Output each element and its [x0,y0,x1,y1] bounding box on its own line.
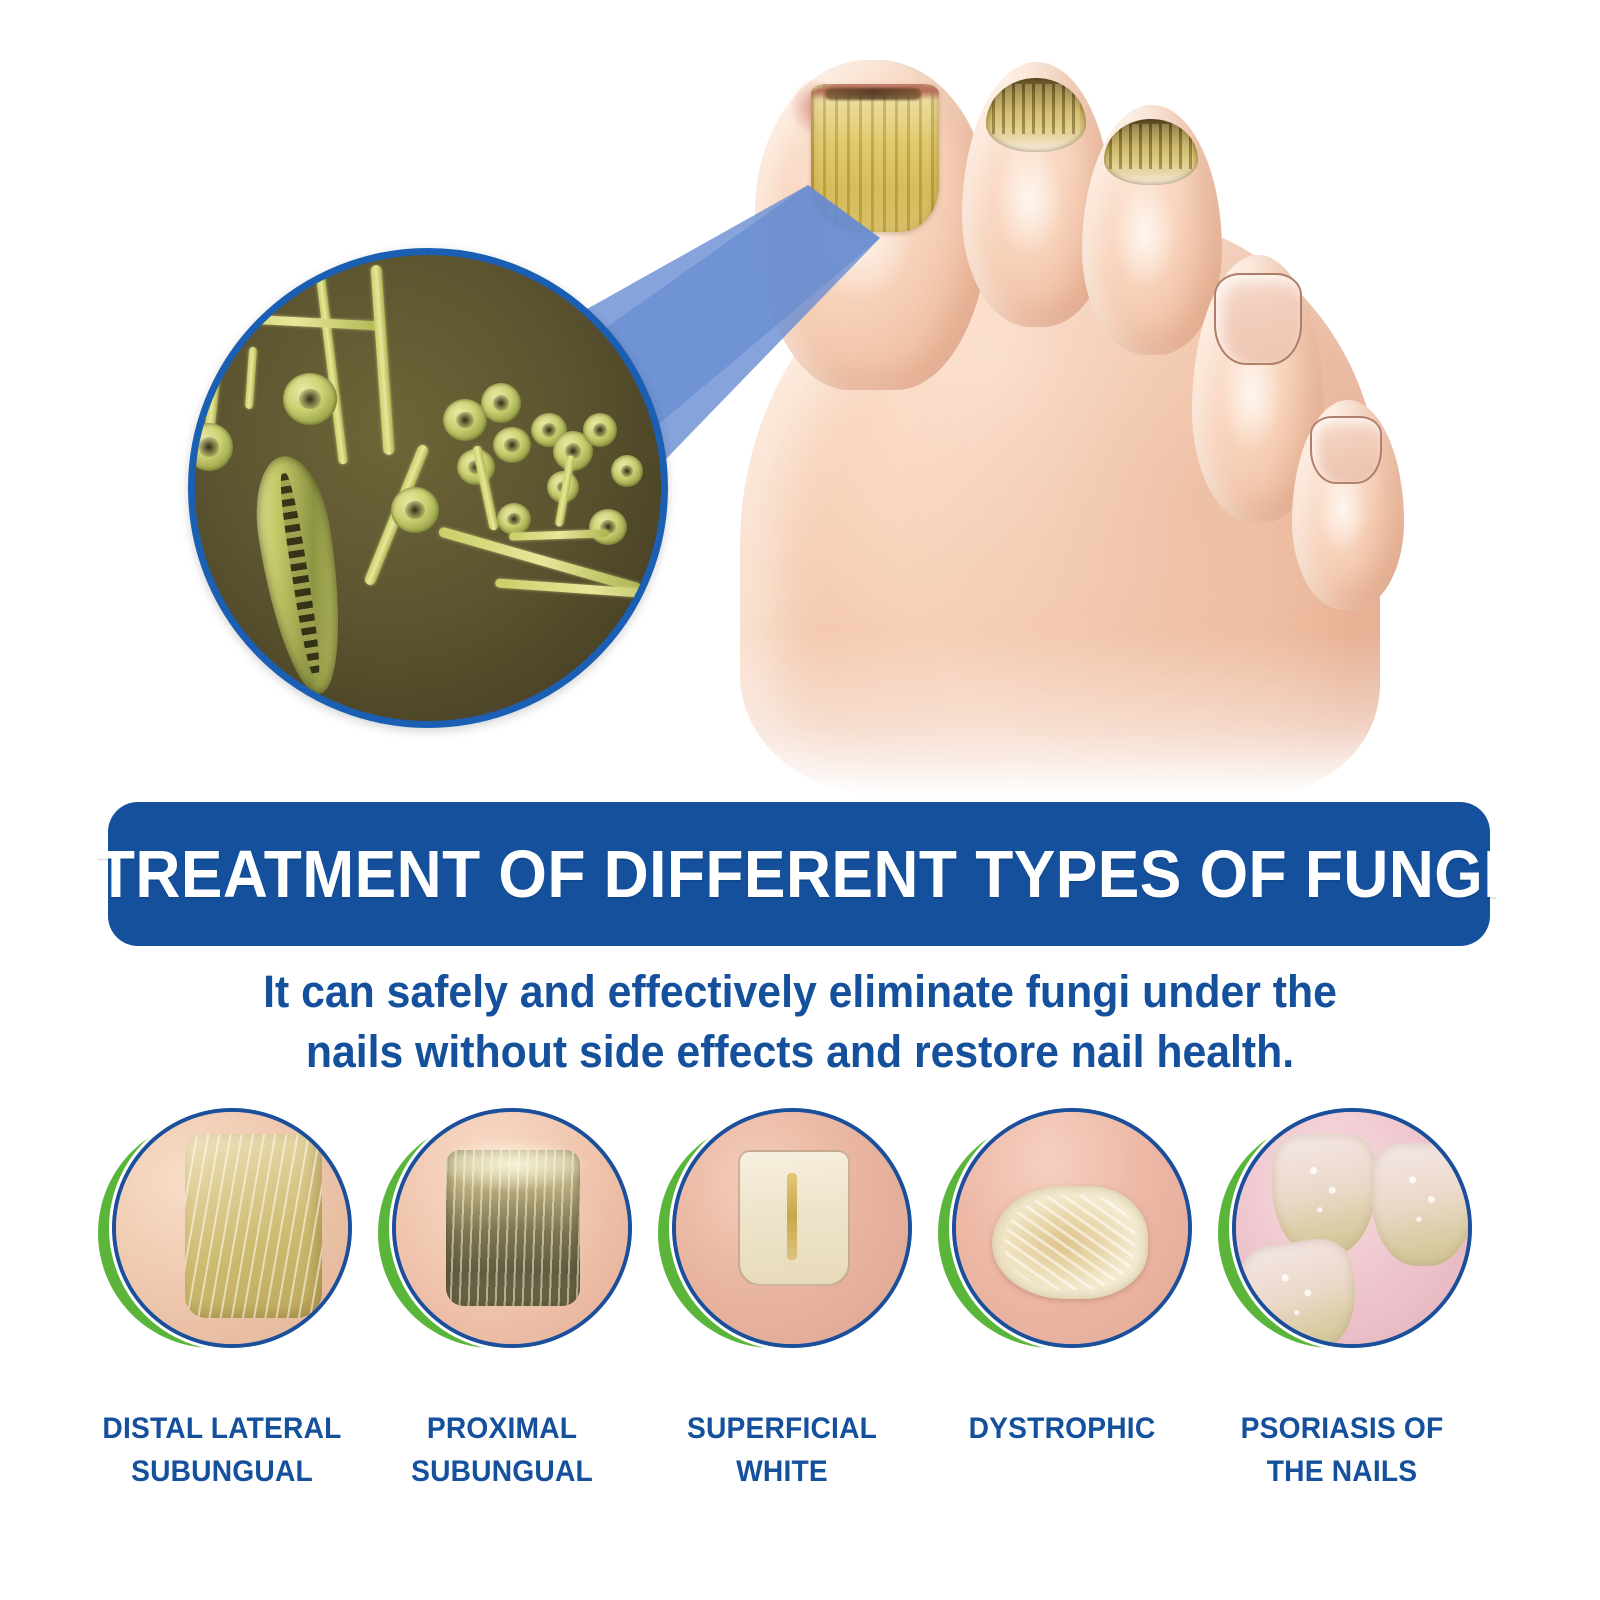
nail-plate [1272,1134,1376,1257]
hypha-main-filament [370,265,394,455]
nail-plate [185,1134,322,1318]
nail-plate [992,1186,1148,1299]
nail-photo-art [674,1110,910,1346]
nail-photo [1232,1108,1472,1348]
banner-title: TREATMENT OF DIFFERENT TYPES OF FUNGI [97,841,1501,908]
big-toe [755,60,990,390]
label-dystrophic: DYSTROPHIC [921,1408,1203,1451]
infographic-page: TREATMENT OF DIFFERENT TYPES OF FUNGI It… [0,0,1600,1600]
label-distal-lateral-subungual: DISTAL LATERAL SUBUNGUAL [81,1408,363,1493]
spore [283,373,337,425]
spore [391,487,439,533]
spore [583,413,617,447]
subtitle-block: It can safely and effectively eliminate … [173,962,1427,1082]
second-toe-infected-nail [986,78,1086,152]
microscope-fungi-circle [188,248,668,728]
headline-banner: TREATMENT OF DIFFERENT TYPES OF FUNGI [108,802,1490,946]
nail-condition-gallery [0,1108,1600,1408]
spore [188,423,233,471]
fourth-toe-healthy-nail [1214,273,1302,365]
nail-plate [1236,1235,1364,1348]
thumbnail-psoriasis-of-the-nails[interactable] [1218,1108,1466,1356]
hypha-filament [245,347,257,409]
third-toe-infected-nail [1104,119,1198,185]
hypha-filament [311,248,348,465]
hypha-filament [205,312,385,330]
nail-photo [952,1108,1192,1348]
nail-photo-art [1234,1110,1470,1346]
label-proximal-subungual: PROXIMAL SUBUNGUAL [361,1408,643,1493]
macroconidium [247,451,356,699]
gallery-labels: DISTAL LATERAL SUBUNGUAL PROXIMAL SUBUNG… [0,1408,1600,1528]
nail-photo [112,1108,352,1348]
nail-photo-art [394,1110,630,1346]
thumbnail-proximal-subungual[interactable] [378,1108,626,1356]
second-toe-highlight [995,142,1064,259]
nail-photo [392,1108,632,1348]
big-toe-infected-nail [811,84,939,232]
subtitle-line-2: nails without side effects and restore n… [173,1022,1427,1082]
thumbnail-superficial-white[interactable] [658,1108,906,1356]
spore [611,455,643,487]
spore [493,427,531,463]
spore [481,383,521,423]
thumbnail-distal-lateral-subungual[interactable] [98,1108,346,1356]
foot-illustration [700,0,1520,800]
thumbnail-dystrophic[interactable] [938,1108,1186,1356]
nail-plate [1371,1143,1472,1266]
nail-photo-art [114,1110,350,1346]
hypha-filament [495,578,668,600]
label-superficial-white: SUPERFICIAL WHITE [641,1408,923,1493]
nail-plate [446,1150,581,1306]
subtitle-line-1: It can safely and effectively eliminate … [173,962,1427,1022]
spore [589,509,627,545]
third-toe-nail-striations [1109,124,1193,169]
big-toe-nail-debris [825,88,921,100]
hero-image [0,0,1600,800]
spore [497,503,531,535]
fifth-toe [1292,400,1404,610]
nail-photo [672,1108,912,1348]
label-psoriasis-of-the-nails: PSORIASIS OF THE NAILS [1201,1408,1483,1493]
nail-photo-art [954,1110,1190,1346]
third-toe-highlight [1113,180,1177,290]
second-toe-nail-striations [992,84,1080,134]
fifth-toe-healthy-nail [1310,416,1382,484]
nail-plate [738,1150,851,1286]
